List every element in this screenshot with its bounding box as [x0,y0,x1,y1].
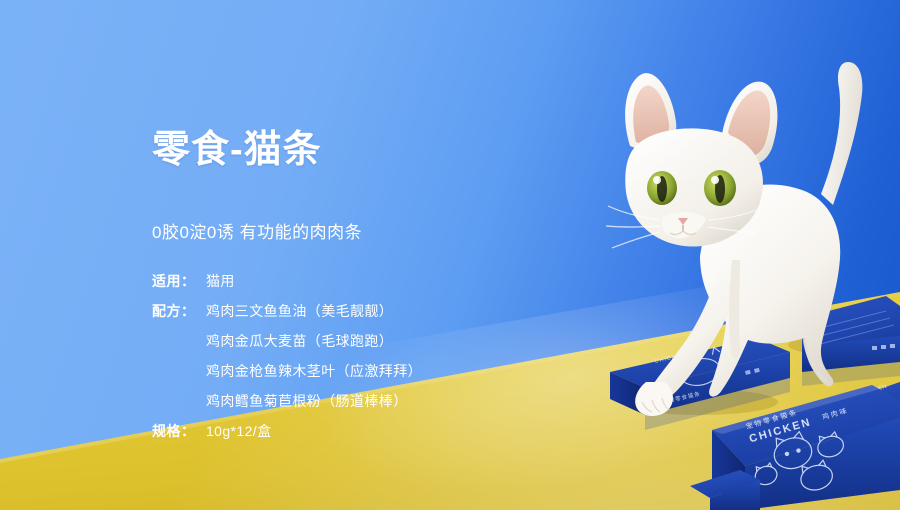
spec-row-usage: 适用： 猫用 [152,266,422,296]
spec-list: 适用： 猫用 配方： 鸡肉三文鱼鱼油（美毛靓靓） 鸡肉金瓜大麦苗（毛球跑跑） 鸡… [152,266,422,446]
spec-value: 10g*12/盒 [206,416,271,446]
spec-values-size: 10g*12/盒 [206,416,271,446]
cat-paw [635,382,673,416]
spec-values-usage: 猫用 [206,266,235,296]
product-banner: CHICKEN 鸡肉味 宠物零食猫条 [0,0,900,510]
spec-value: 鸡肉鳕鱼菊苣根粉（肠道棒棒） [206,386,422,416]
spec-row-formula: 配方： 鸡肉三文鱼鱼油（美毛靓靓） 鸡肉金瓜大麦苗（毛球跑跑） 鸡肉金枪鱼辣木茎… [152,296,422,416]
spec-label-usage: 适用： [152,266,206,296]
spec-values-formula: 鸡肉三文鱼鱼油（美毛靓靓） 鸡肉金瓜大麦苗（毛球跑跑） 鸡肉金枪鱼辣木茎叶（应激… [206,296,422,416]
spec-label-size: 规格： [152,416,206,446]
spec-value: 鸡肉三文鱼鱼油（美毛靓靓） [206,296,422,326]
spec-row-size: 规格： 10g*12/盒 [152,416,422,446]
spec-label-formula: 配方： [152,296,206,326]
spec-value: 猫用 [206,266,235,296]
cat-photo [590,60,900,420]
page-title: 零食-猫条 [152,128,322,172]
copy-block: 零食-猫条 0胶0淀0诱 有功能的肉肉条 适用： 猫用 配方： 鸡肉三文鱼鱼油（… [152,128,322,172]
spec-value: 鸡肉金瓜大麦苗（毛球跑跑） [206,326,422,356]
page-subtitle: 0胶0淀0诱 有功能的肉肉条 [152,222,362,244]
cat-tail [821,62,862,205]
spec-value: 鸡肉金枪鱼辣木茎叶（应激拜拜） [206,356,422,386]
